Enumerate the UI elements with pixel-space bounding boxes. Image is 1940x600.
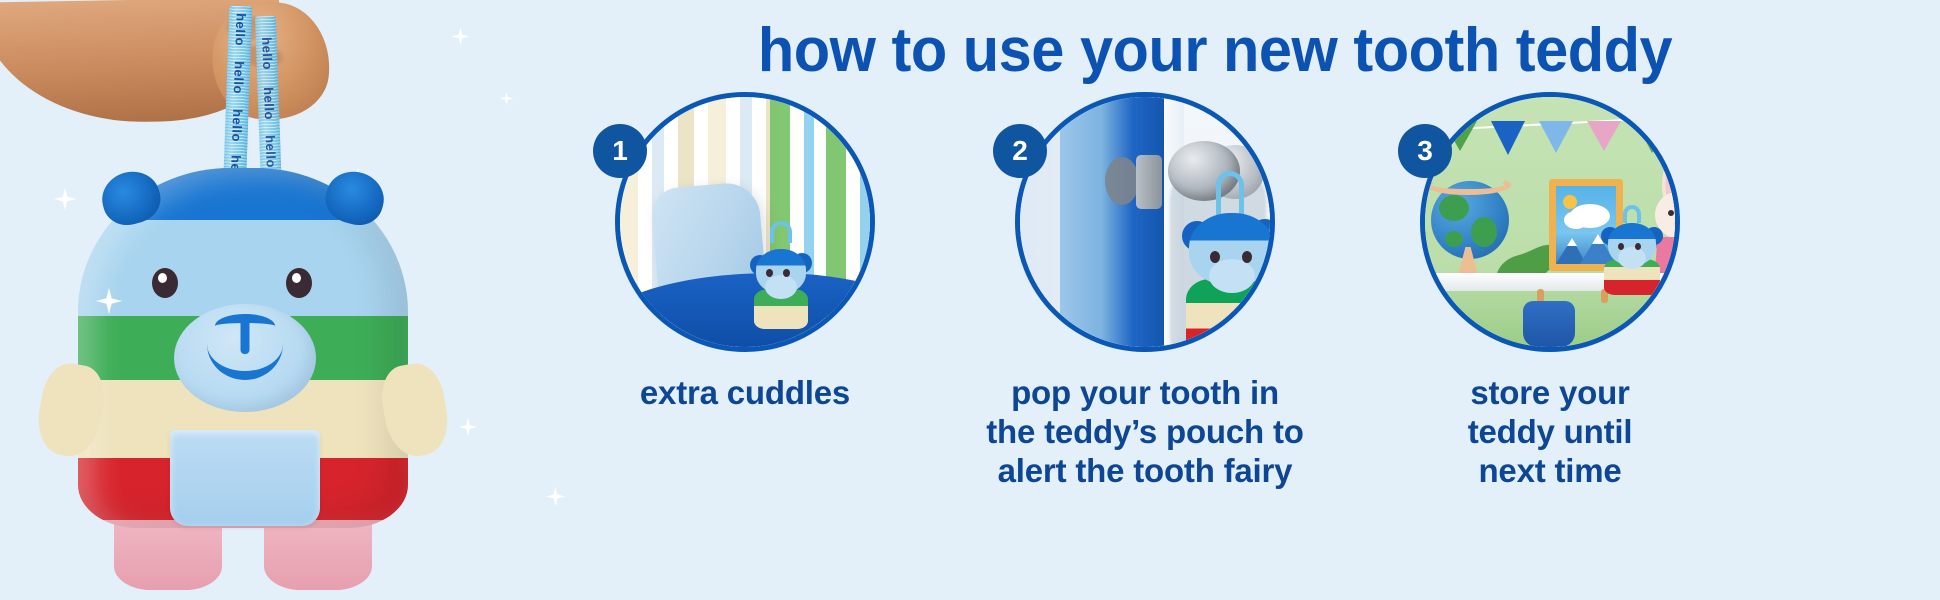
teddy-eye-right (286, 268, 312, 298)
step-3: 3 store your teddy until next time (1350, 92, 1750, 491)
step-3-caption: store your teddy until next time (1350, 374, 1750, 491)
bunting-flag (1539, 121, 1573, 153)
ribbon-word: hello (262, 135, 278, 168)
step-2-caption: pop your tooth in the teddy’s pouch to a… (945, 374, 1345, 491)
mini-teddy-bed (748, 237, 814, 323)
bunting-flag (1587, 121, 1621, 151)
step-2-number-badge: 2 (993, 124, 1047, 178)
ribbon-word: hello (232, 13, 248, 46)
bunting-flag (1491, 121, 1525, 155)
teddy-eye-left (152, 268, 178, 298)
step-2-photo (1015, 92, 1275, 352)
step-1-photo (615, 92, 875, 352)
ribbon-word: hello (260, 87, 276, 120)
caption-line: store your (1350, 374, 1750, 413)
page-title: how to use your new tooth teddy (529, 18, 1902, 83)
promo-banner: hello hello hello hello hello hello hell… (0, 0, 1940, 600)
teddy-leg-right (264, 520, 372, 590)
step-2: 2 pop your tooth in the teddy’s pouch to… (945, 92, 1345, 491)
ribbon-word: hello (229, 109, 245, 142)
steps-row: 1 extra cuddles (520, 92, 1940, 592)
ribbon-word: hello (259, 37, 275, 70)
teddy-leg-left (114, 520, 222, 590)
bunting-flag (1635, 121, 1669, 153)
scene-shelf (1425, 97, 1675, 347)
ribbon-word: hello (230, 61, 246, 94)
mini-teddy-door (1176, 209, 1275, 352)
caption-line: next time (1350, 452, 1750, 491)
step-1-caption: extra cuddles (545, 374, 945, 413)
teddy-smile (207, 344, 283, 380)
step-1-circle-wrap: 1 (615, 92, 875, 352)
scene-bed (620, 97, 870, 347)
caption-line: pop your tooth in (945, 374, 1345, 413)
step-1: 1 extra cuddles (545, 92, 945, 413)
caption-line: teddy until (1350, 413, 1750, 452)
teddy-muzzle (174, 304, 316, 412)
plush-tooth-teddy (78, 168, 408, 588)
caption-line: the teddy’s pouch to (945, 413, 1345, 452)
caption-line: alert the tooth fairy (945, 452, 1345, 491)
step-3-number-badge: 3 (1398, 124, 1452, 178)
step-3-photo (1420, 92, 1680, 352)
caption-line: extra cuddles (545, 374, 945, 413)
hero-product-photo: hello hello hello hello hello hello hell… (0, 0, 520, 600)
scene-door (1020, 97, 1270, 347)
backpack (1523, 301, 1575, 347)
step-3-circle-wrap: 3 (1420, 92, 1680, 352)
step-2-circle-wrap: 2 (1015, 92, 1275, 352)
teddy-tooth-pouch (170, 430, 320, 526)
step-1-number-badge: 1 (593, 124, 647, 178)
